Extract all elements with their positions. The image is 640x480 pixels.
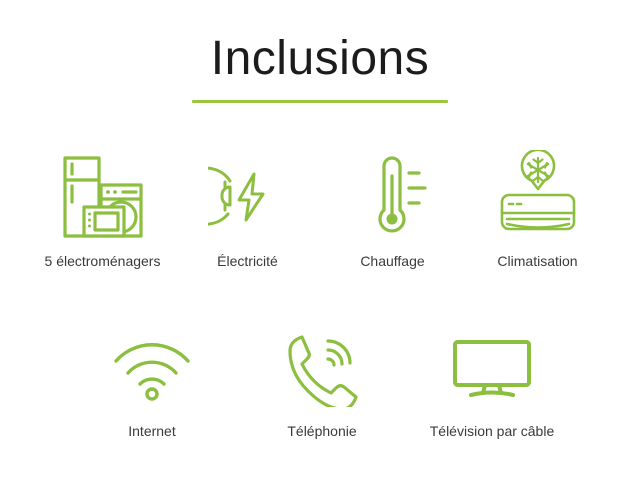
thermometer-icon	[353, 148, 433, 244]
television-icon	[450, 330, 534, 408]
inclusions-row-1: 5 électroménagers Électricité	[30, 148, 610, 270]
inclusion-item-electricity: Électricité	[175, 148, 320, 270]
inclusion-label: Climatisation	[497, 252, 577, 270]
air-conditioner-snowflake-icon	[492, 148, 584, 244]
inclusion-label: Téléphonie	[287, 422, 356, 440]
inclusion-label: Télévision par câble	[430, 422, 555, 440]
inclusion-label: Chauffage	[360, 252, 424, 270]
wifi-icon	[110, 330, 194, 408]
inclusion-item-cable-tv: Télévision par câble	[412, 330, 572, 440]
telephone-handset-icon	[284, 330, 360, 408]
inclusion-item-telephone: Téléphonie	[242, 330, 402, 440]
appliances-icon	[57, 148, 149, 244]
inclusion-item-internet: Internet	[72, 330, 232, 440]
title-block: Inclusions	[0, 30, 640, 103]
page-title: Inclusions	[0, 30, 640, 88]
inclusion-item-appliances: 5 électroménagers	[30, 148, 175, 270]
electricity-plug-bolt-icon	[208, 148, 288, 244]
title-divider	[192, 100, 448, 103]
inclusion-item-air-conditioning: Climatisation	[465, 148, 610, 270]
inclusions-slide: Inclusions	[0, 0, 640, 480]
inclusion-label: Internet	[128, 422, 175, 440]
inclusions-row-2: Internet Téléphonie	[72, 330, 572, 440]
inclusion-label: Électricité	[217, 252, 278, 270]
inclusion-item-heating: Chauffage	[320, 148, 465, 270]
inclusion-label: 5 électroménagers	[45, 252, 161, 270]
